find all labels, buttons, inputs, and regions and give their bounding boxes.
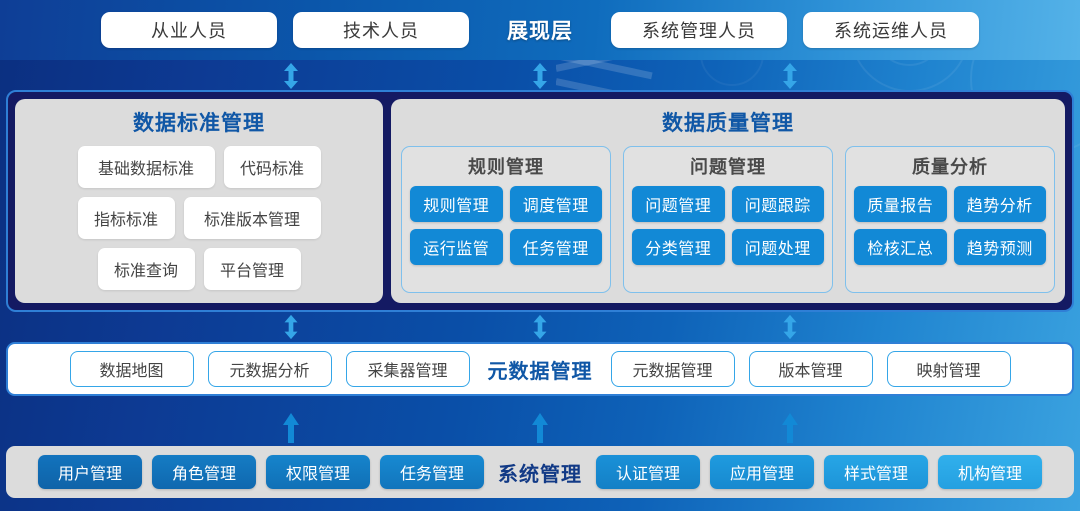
chip-version-mgmt[interactable]: 版本管理	[749, 351, 873, 387]
system-mgmt-band: 用户管理 角色管理 权限管理 任务管理 系统管理 认证管理 应用管理 样式管理 …	[6, 446, 1074, 498]
up-arrow-icon	[280, 412, 302, 442]
data-standard-group: 数据标准管理 基础数据标准 代码标准 指标标准 标准版本管理 标准查询 平台管理	[15, 99, 383, 303]
metadata-layer-title: 元数据管理	[484, 355, 597, 384]
data-standard-title: 数据标准管理	[25, 107, 373, 137]
chip-schedule-mgmt[interactable]: 调度管理	[510, 186, 603, 222]
subgroup-issue-mgmt-title: 问题管理	[632, 153, 824, 179]
chip-issue-tracking[interactable]: 问题跟踪	[732, 186, 825, 222]
core-panel: 数据标准管理 基础数据标准 代码标准 指标标准 标准版本管理 标准查询 平台管理…	[6, 90, 1074, 312]
chip-data-map[interactable]: 数据地图	[70, 351, 194, 387]
presentation-layer-title: 展现层	[485, 15, 595, 45]
role-chip-technician[interactable]: 技术人员	[293, 12, 469, 48]
double-arrow-icon	[529, 62, 551, 92]
subgroup-quality-analysis-title: 质量分析	[854, 153, 1046, 179]
chip-issue-handling[interactable]: 问题处理	[732, 229, 825, 265]
chip-standard-version-mgmt[interactable]: 标准版本管理	[184, 197, 321, 239]
data-standard-items: 基础数据标准 代码标准 指标标准 标准版本管理 标准查询 平台管理	[25, 146, 373, 290]
chip-auth-mgmt[interactable]: 认证管理	[596, 455, 700, 489]
data-quality-subgroups: 规则管理 规则管理 调度管理 运行监管 任务管理 问题管理 问题管理 问题跟踪 …	[401, 146, 1055, 293]
system-mgmt-title: 系统管理	[494, 458, 586, 487]
double-arrow-icon	[779, 62, 801, 92]
chip-task-mgmt-system[interactable]: 任务管理	[380, 455, 484, 489]
chip-quality-report[interactable]: 质量报告	[854, 186, 947, 222]
role-chip-sysadmin[interactable]: 系统管理人员	[611, 12, 787, 48]
up-arrow-icon	[779, 412, 801, 442]
chip-indicator-standard[interactable]: 指标标准	[78, 197, 175, 239]
chip-trend-forecast[interactable]: 趋势预测	[954, 229, 1047, 265]
chip-app-mgmt[interactable]: 应用管理	[710, 455, 814, 489]
role-chip-sysops[interactable]: 系统运维人员	[803, 12, 979, 48]
connector-row-top	[0, 62, 1080, 92]
subgroup-issue-mgmt: 问题管理 问题管理 问题跟踪 分类管理 问题处理	[623, 146, 833, 293]
chip-standard-query[interactable]: 标准查询	[98, 248, 195, 290]
subgroup-rule-mgmt: 规则管理 规则管理 调度管理 运行监管 任务管理	[401, 146, 611, 293]
chip-basic-data-standard[interactable]: 基础数据标准	[78, 146, 215, 188]
chip-trend-analysis[interactable]: 趋势分析	[954, 186, 1047, 222]
connector-row-mid	[0, 314, 1080, 344]
chip-collector-mgmt[interactable]: 采集器管理	[346, 351, 470, 387]
subgroup-issue-mgmt-items: 问题管理 问题跟踪 分类管理 问题处理	[632, 186, 824, 265]
chip-metadata-mgmt[interactable]: 元数据管理	[611, 351, 735, 387]
chip-category-mgmt[interactable]: 分类管理	[632, 229, 725, 265]
up-arrow-icon	[529, 412, 551, 442]
chip-issue-mgmt[interactable]: 问题管理	[632, 186, 725, 222]
chip-platform-mgmt[interactable]: 平台管理	[204, 248, 301, 290]
chip-runtime-supervision[interactable]: 运行监管	[410, 229, 503, 265]
presentation-layer-band: 从业人员 技术人员 展现层 系统管理人员 系统运维人员	[0, 0, 1080, 60]
chip-role-mgmt[interactable]: 角色管理	[152, 455, 256, 489]
subgroup-quality-analysis-items: 质量报告 趋势分析 检核汇总 趋势预测	[854, 186, 1046, 265]
chip-metadata-analysis[interactable]: 元数据分析	[208, 351, 332, 387]
chip-rule-mgmt[interactable]: 规则管理	[410, 186, 503, 222]
chip-style-mgmt[interactable]: 样式管理	[824, 455, 928, 489]
chip-check-summary[interactable]: 检核汇总	[854, 229, 947, 265]
connector-row-bottom	[0, 412, 1080, 446]
data-quality-group: 数据质量管理 规则管理 规则管理 调度管理 运行监管 任务管理 问题管理 问题管…	[391, 99, 1065, 303]
metadata-layer-band: 数据地图 元数据分析 采集器管理 元数据管理 元数据管理 版本管理 映射管理	[6, 342, 1074, 396]
chip-org-mgmt[interactable]: 机构管理	[938, 455, 1042, 489]
subgroup-rule-mgmt-title: 规则管理	[410, 153, 602, 179]
role-chip-practitioner[interactable]: 从业人员	[101, 12, 277, 48]
data-quality-title: 数据质量管理	[401, 107, 1055, 137]
chip-user-mgmt[interactable]: 用户管理	[38, 455, 142, 489]
double-arrow-icon	[280, 314, 302, 344]
chip-code-standard[interactable]: 代码标准	[224, 146, 321, 188]
chip-mapping-mgmt[interactable]: 映射管理	[887, 351, 1011, 387]
chip-permission-mgmt[interactable]: 权限管理	[266, 455, 370, 489]
chip-task-mgmt[interactable]: 任务管理	[510, 229, 603, 265]
architecture-diagram: 从业人员 技术人员 展现层 系统管理人员 系统运维人员 数据标准管理 基础数据标…	[0, 0, 1080, 511]
double-arrow-icon	[529, 314, 551, 344]
double-arrow-icon	[779, 314, 801, 344]
subgroup-quality-analysis: 质量分析 质量报告 趋势分析 检核汇总 趋势预测	[845, 146, 1055, 293]
double-arrow-icon	[280, 62, 302, 92]
subgroup-rule-mgmt-items: 规则管理 调度管理 运行监管 任务管理	[410, 186, 602, 265]
